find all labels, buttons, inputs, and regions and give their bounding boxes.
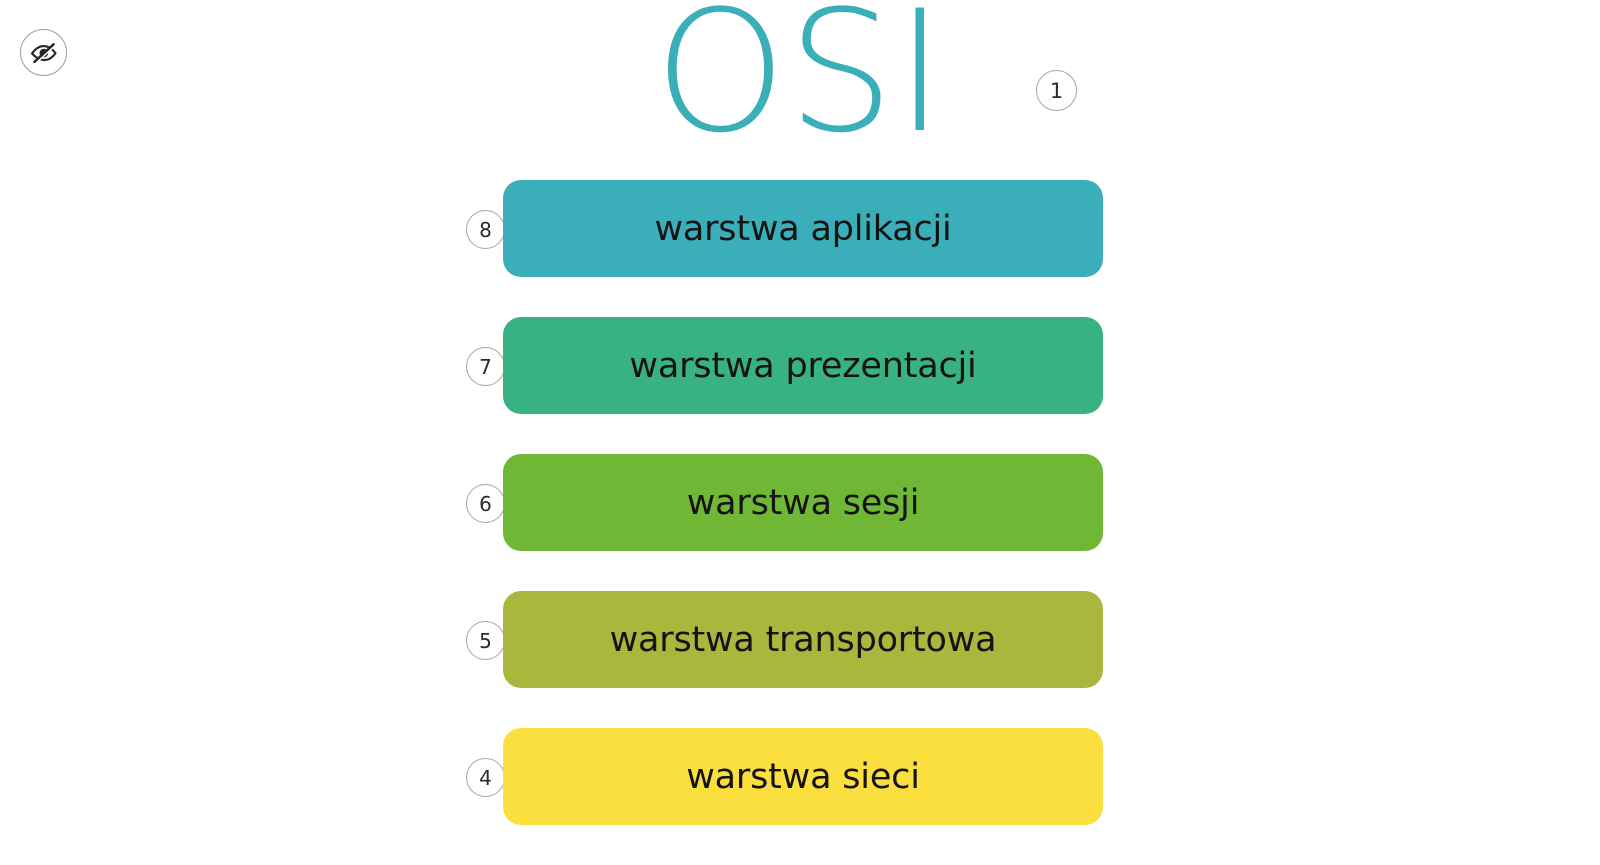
slide-number-badge: 1 xyxy=(1036,70,1077,111)
layer-label: warstwa sieci xyxy=(686,757,919,797)
page-title: OSI xyxy=(0,0,1600,156)
layer-row: 4 warstwa sieci xyxy=(0,728,1600,825)
slide-canvas: OSI 1 8 warstwa aplikacji 7 warstwa prez… xyxy=(0,0,1600,860)
layer-label: warstwa sesji xyxy=(687,483,919,523)
layer-bar-network[interactable]: warstwa sieci xyxy=(503,728,1103,825)
layer-bar-transport[interactable]: warstwa transportowa xyxy=(503,591,1103,688)
layer-index-badge: 6 xyxy=(466,484,505,523)
layer-row: 7 warstwa prezentacji xyxy=(0,317,1600,414)
layer-bar-session[interactable]: warstwa sesji xyxy=(503,454,1103,551)
layer-row: 5 warstwa transportowa xyxy=(0,591,1600,688)
layer-label: warstwa prezentacji xyxy=(629,346,976,386)
layer-index-badge: 8 xyxy=(466,210,505,249)
layer-bar-presentation[interactable]: warstwa prezentacji xyxy=(503,317,1103,414)
layer-index-badge: 7 xyxy=(466,347,505,386)
layer-row: 8 warstwa aplikacji xyxy=(0,180,1600,277)
layer-label: warstwa transportowa xyxy=(610,620,997,660)
layer-index-badge: 4 xyxy=(466,758,505,797)
layer-row: 6 warstwa sesji xyxy=(0,454,1600,551)
layer-bar-application[interactable]: warstwa aplikacji xyxy=(503,180,1103,277)
layer-index-badge: 5 xyxy=(466,621,505,660)
layer-label: warstwa aplikacji xyxy=(654,209,951,249)
osi-layer-stack: 8 warstwa aplikacji 7 warstwa prezentacj… xyxy=(0,180,1600,865)
